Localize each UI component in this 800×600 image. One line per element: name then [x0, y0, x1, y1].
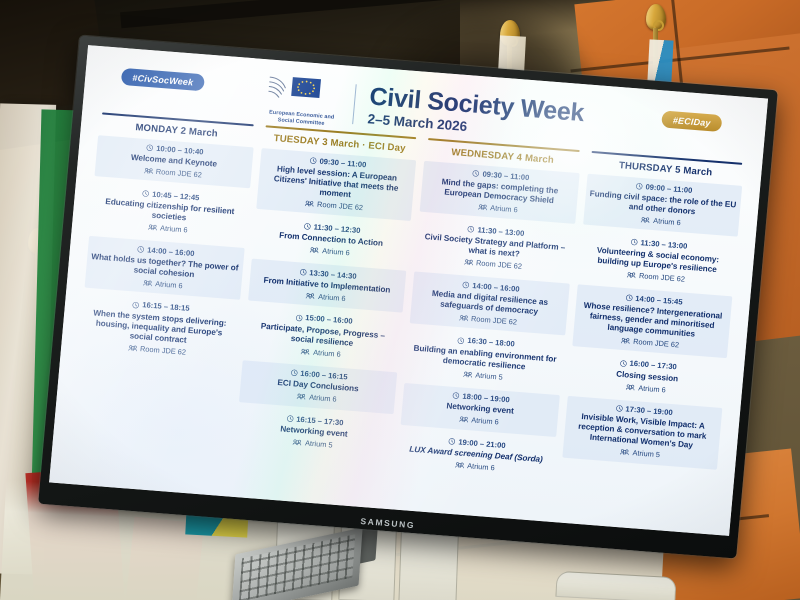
equipment-housing [555, 571, 676, 600]
session-card: 10:00 – 10:40Welcome and KeynoteRoom JDE… [94, 135, 253, 189]
session-venue-text: Atrium 6 [638, 383, 666, 394]
conference-room-scene: #CivSocWeek #ECIDay [0, 0, 800, 600]
tv-bezel: #CivSocWeek #ECIDay [38, 35, 778, 558]
eesc-logo: European Economic and Social Committee [264, 71, 342, 129]
session-venue-text: Room JDE 62 [317, 200, 364, 213]
session-card: 11:30 – 13:00Volunteering & social econo… [578, 229, 738, 293]
session-list: 09:30 – 11:00Mind the gaps: completing t… [397, 160, 580, 482]
clock-icon [142, 190, 150, 198]
session-card: 11:30 – 12:30From Connection to ActionAt… [252, 213, 411, 267]
clock-icon [619, 359, 627, 367]
venue-icon [144, 167, 154, 175]
clock-icon [452, 392, 460, 400]
session-list: 09:30 – 11:00High level session: A Europ… [234, 148, 416, 460]
eesc-emblem-icon: European Economic and Social Committee [264, 71, 342, 129]
session-venue-text: Room JDE 62 [140, 344, 187, 357]
day-column-monday: MONDAY 2 March10:00 – 10:40Welcome and K… [64, 112, 259, 486]
session-card: 14:00 – 15:45Whose resilience? Intergene… [572, 284, 733, 358]
clock-icon [625, 294, 633, 302]
session-card: 11:30 – 13:00Civil Society Strategy and … [415, 216, 575, 280]
session-venue-text: Atrium 5 [475, 370, 503, 381]
venue-icon [310, 246, 320, 254]
session-card: 09:30 – 11:00High level session: A Europ… [256, 148, 417, 222]
clock-icon [132, 301, 140, 309]
venue-icon [626, 383, 636, 391]
session-card: 16:15 – 18:15When the system stops deliv… [79, 292, 240, 366]
venue-icon [305, 200, 315, 208]
session-card: 14:00 – 16:00What holds us together? The… [85, 236, 245, 300]
day-column-thursday: THURSDAY 5 March09:00 – 11:00Funding civ… [553, 150, 748, 524]
venue-icon [620, 449, 630, 457]
clock-icon [615, 405, 623, 413]
session-card: 16:15 – 17:30Networking eventAtrium 5 [234, 406, 393, 460]
clock-icon [448, 438, 456, 446]
session-card: 16:30 – 18:00Building an enabling enviro… [405, 327, 565, 391]
hashtag-badge-eciday: #ECIDay [661, 110, 722, 132]
venue-icon [293, 439, 303, 447]
clock-icon [630, 238, 638, 246]
session-card: 16:00 – 17:30Closing sessionAtrium 6 [568, 350, 727, 404]
hashtag-badge-civsocweek: #CivSocWeek [121, 68, 205, 91]
session-card: 15:00 – 16:00Participate, Propose, Progr… [243, 304, 403, 368]
venue-icon [306, 292, 316, 300]
session-venue-text: Atrium 6 [653, 216, 681, 227]
title-block: Civil Society Week 2–5 March 2026 [367, 84, 585, 143]
clock-icon [467, 225, 475, 233]
session-card: 16:00 – 16:15ECI Day ConclusionsAtrium 6 [239, 360, 398, 414]
clock-icon [303, 223, 311, 231]
session-card: 17:30 – 19:00Invisible Work, Visible Imp… [562, 396, 723, 470]
venue-icon [143, 279, 153, 287]
wall-mounted-tv: #CivSocWeek #ECIDay [38, 35, 778, 558]
session-venue-text: Atrium 6 [322, 246, 350, 257]
session-venue-text: Atrium 6 [155, 279, 183, 290]
session-venue-text: Atrium 5 [632, 449, 660, 460]
venue-icon [459, 416, 469, 424]
session-card: 18:00 – 19:00Networking eventAtrium 6 [401, 383, 560, 437]
clock-icon [299, 268, 307, 276]
venue-icon [128, 344, 138, 352]
clock-icon [462, 281, 470, 289]
session-venue-text: Atrium 6 [313, 347, 341, 358]
session-venue-text: Room JDE 62 [471, 314, 518, 327]
venue-icon [459, 314, 469, 322]
day-column-tuesday: TUESDAY 3 March · ECI Day09:30 – 11:00Hi… [227, 125, 422, 499]
venue-icon [641, 216, 651, 224]
session-venue-text: Atrium 6 [309, 393, 337, 404]
clock-icon [295, 314, 303, 322]
eesc-logo-caption: European Economic and Social Committee [264, 109, 339, 129]
presentation-slide: #CivSocWeek #ECIDay [49, 45, 768, 536]
session-venue-text: Atrium 6 [160, 223, 188, 234]
clock-icon [309, 157, 317, 165]
session-card: 10:45 – 12:45Educating citizenship for r… [90, 180, 250, 244]
session-card: 09:30 – 11:00Mind the gaps: completing t… [420, 160, 580, 224]
day-column-wednesday: WEDNESDAY 4 March09:30 – 11:00Mind the g… [390, 138, 585, 512]
programme-columns: MONDAY 2 March10:00 – 10:40Welcome and K… [64, 112, 748, 525]
venue-icon [463, 370, 473, 378]
clock-icon [457, 337, 465, 345]
session-list: 10:00 – 10:40Welcome and KeynoteRoom JDE… [79, 135, 254, 365]
tv-brand-logo: SAMSUNG [360, 516, 415, 530]
session-venue-text: Room JDE 62 [639, 271, 686, 284]
clock-icon [137, 245, 145, 253]
venue-icon [478, 204, 488, 212]
session-venue-text: Atrium 6 [318, 292, 346, 303]
venue-icon [148, 224, 158, 232]
venue-icon [301, 348, 311, 356]
session-venue-text: Atrium 6 [490, 204, 518, 215]
clock-icon [472, 170, 480, 178]
clock-icon [286, 415, 294, 423]
session-venue-text: Room JDE 62 [476, 258, 523, 271]
session-card: 09:00 – 11:00Funding civil space: the ro… [583, 173, 743, 237]
session-card: 14:00 – 16:00Media and digital resilienc… [410, 272, 570, 336]
brand-divider [352, 84, 357, 124]
clock-icon [146, 144, 154, 152]
session-card: 13:30 – 14:30From Initiative to Implemen… [248, 259, 407, 313]
venue-icon [455, 461, 465, 469]
venue-icon [464, 258, 474, 266]
session-list: 09:00 – 11:00Funding civil space: the ro… [562, 173, 742, 469]
session-venue-text: Room JDE 62 [155, 167, 202, 180]
venue-icon [627, 271, 637, 279]
session-card: 19:00 – 21:00LUX Award screening Deaf (S… [397, 428, 556, 482]
session-venue-text: Atrium 5 [305, 439, 333, 450]
clock-icon [635, 183, 643, 191]
session-venue-text: Room JDE 62 [633, 337, 680, 350]
session-venue-text: Atrium 6 [467, 461, 495, 472]
venue-icon [621, 337, 631, 345]
venue-icon [297, 393, 307, 401]
tv-screen: #CivSocWeek #ECIDay [49, 45, 768, 536]
session-venue-text: Atrium 6 [471, 416, 499, 427]
clock-icon [290, 369, 298, 377]
flag-finial-icon [646, 4, 666, 30]
